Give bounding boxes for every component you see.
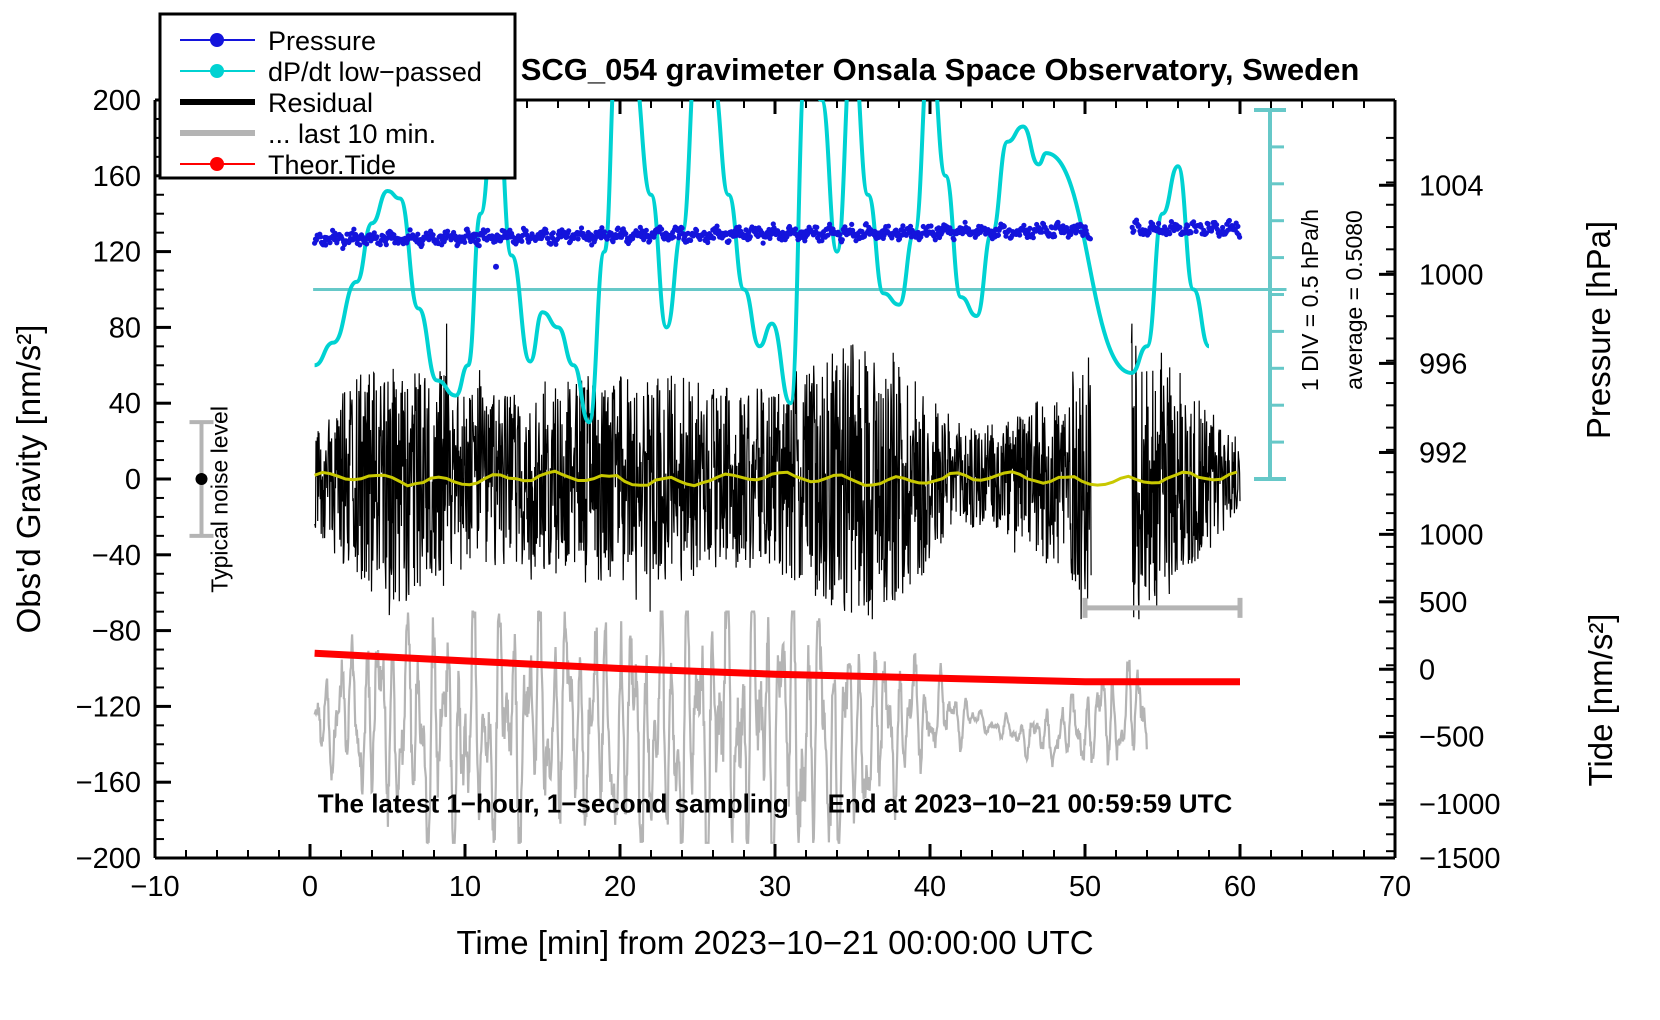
pressure-point: [761, 241, 766, 246]
pressure-point: [793, 226, 798, 231]
pressure-point: [928, 223, 933, 228]
pressure-point: [1017, 232, 1022, 237]
pressure-point: [671, 234, 676, 239]
pressure-point: [726, 238, 731, 243]
pressure-point: [680, 226, 685, 231]
y-tick-label: −160: [76, 767, 141, 799]
pressure-point: [951, 237, 956, 242]
noise-level-label: Typical noise level: [207, 406, 233, 593]
pressure-point: [1131, 228, 1136, 233]
bottom-right-annotation: End at 2023−10−21 00:59:59 UTC: [828, 789, 1233, 819]
pressure-point: [476, 238, 481, 243]
pressure-tick-label: 996: [1419, 348, 1467, 380]
legend-label: dP/dt low−passed: [268, 57, 482, 87]
pressure-point: [485, 228, 490, 233]
scale-average-label: average = 0.5080: [1341, 210, 1367, 390]
pressure-tick-label: 992: [1419, 437, 1467, 469]
legend-marker: [210, 157, 224, 171]
y-tick-label: −200: [76, 843, 141, 875]
tide-tick-label: 500: [1419, 587, 1467, 619]
pressure-axis-label: Pressure [hPa]: [1580, 221, 1617, 439]
pressure-point: [1220, 225, 1225, 230]
pressure-point: [849, 222, 854, 227]
pressure-point: [1031, 235, 1036, 240]
tide-tick-label: 1000: [1419, 519, 1484, 551]
tide-tick-label: 0: [1419, 654, 1435, 686]
gravimeter-chart: −10010203040506070Time [min] from 2023−1…: [0, 0, 1660, 1020]
pressure-point: [602, 229, 607, 234]
x-tick-label: 30: [759, 871, 791, 903]
pressure-point: [1237, 235, 1242, 240]
x-tick-label: 50: [1069, 871, 1101, 903]
scale-div-label: 1 DIV = 0.5 hPa/h: [1297, 209, 1323, 391]
pressure-point: [1002, 224, 1007, 229]
pressure-point: [644, 228, 649, 233]
pressure-point: [576, 236, 581, 241]
y-tick-label: 0: [125, 464, 141, 496]
x-tick-label: 40: [914, 871, 946, 903]
pressure-point: [551, 230, 556, 235]
pressure-point: [1235, 224, 1240, 229]
pressure-outlier-point: [493, 264, 499, 270]
x-tick-label: −10: [130, 871, 179, 903]
legend-label: Residual: [268, 88, 373, 118]
y-tick-label: −120: [76, 691, 141, 723]
pressure-point: [579, 225, 584, 230]
tide-axis-label: Tide [nm/s²]: [1582, 614, 1619, 787]
legend-marker: [210, 33, 224, 47]
pressure-point: [364, 241, 369, 246]
x-tick-label: 0: [302, 871, 318, 903]
y-tick-label: 80: [109, 312, 141, 344]
pressure-point: [415, 232, 420, 237]
pressure-point: [519, 239, 524, 244]
pressure-point: [1227, 218, 1232, 223]
y-tick-label: −80: [92, 616, 141, 648]
y-tick-label: 120: [93, 237, 141, 269]
pressure-point: [963, 220, 968, 225]
pressure-point: [840, 237, 845, 242]
x-axis-label: Time [min] from 2023−10−21 00:00:00 UTC: [456, 924, 1093, 961]
pressure-point: [886, 224, 891, 229]
pressure-point: [659, 227, 664, 232]
y-tick-label: 200: [93, 85, 141, 117]
pressure-point: [431, 232, 436, 237]
pressure-point: [1052, 234, 1057, 239]
pressure-point: [544, 230, 549, 235]
tide-tick-label: −1000: [1419, 789, 1500, 821]
tide-tick-label: −500: [1419, 722, 1484, 754]
pressure-point: [462, 240, 467, 245]
pressure-point: [814, 225, 819, 230]
pressure-point: [996, 233, 1001, 238]
pressure-point: [1188, 230, 1193, 235]
pressure-point: [1021, 223, 1026, 228]
y-tick-label: 40: [109, 388, 141, 420]
pressure-point: [1214, 222, 1219, 227]
legend-label: Pressure: [268, 26, 376, 56]
x-tick-label: 20: [604, 871, 636, 903]
pressure-point: [1177, 225, 1182, 230]
legend-label: ... last 10 min.: [268, 119, 436, 149]
pressure-point: [477, 243, 482, 248]
x-tick-label: 10: [449, 871, 481, 903]
x-tick-label: 60: [1224, 871, 1256, 903]
pressure-point: [524, 228, 529, 233]
legend-marker: [210, 64, 224, 78]
y-tick-label: 160: [93, 161, 141, 193]
pressure-tick-label: 1000: [1419, 259, 1484, 291]
pressure-point: [1136, 223, 1141, 228]
pressure-point: [445, 229, 450, 234]
pressure-tick-label: 1004: [1419, 170, 1484, 202]
pressure-point: [900, 223, 905, 228]
plot-stage: −10010203040506070Time [min] from 2023−1…: [0, 0, 1660, 1020]
pressure-point: [623, 231, 628, 236]
pressure-point: [1147, 230, 1152, 235]
y-tick-label: −40: [92, 540, 141, 572]
chart-title: SCG_054 gravimeter Onsala Space Observat…: [521, 52, 1360, 87]
pressure-point: [1088, 236, 1093, 241]
pressure-point: [384, 242, 389, 247]
pressure-point: [694, 228, 699, 233]
pressure-point: [688, 238, 693, 243]
tide-tick-label: −1500: [1419, 843, 1500, 875]
pressure-point: [1156, 221, 1161, 226]
pressure-point: [711, 236, 716, 241]
pressure-point: [1167, 231, 1172, 236]
pressure-point: [1194, 229, 1199, 234]
pressure-point: [408, 227, 413, 232]
pressure-point: [351, 227, 356, 232]
pressure-point: [714, 224, 719, 229]
pressure-point: [748, 234, 753, 239]
legend-label: Theor.Tide: [268, 150, 396, 180]
y-left-axis-label: Obs'd Gravity [nm/s²]: [10, 325, 47, 634]
bottom-left-annotation: The latest 1−hour, 1−second sampling: [318, 789, 789, 819]
pressure-point: [553, 242, 558, 247]
pressure-point: [327, 240, 332, 245]
pressure-point: [566, 228, 571, 233]
pressure-point: [374, 234, 379, 239]
x-tick-label: 70: [1379, 871, 1411, 903]
